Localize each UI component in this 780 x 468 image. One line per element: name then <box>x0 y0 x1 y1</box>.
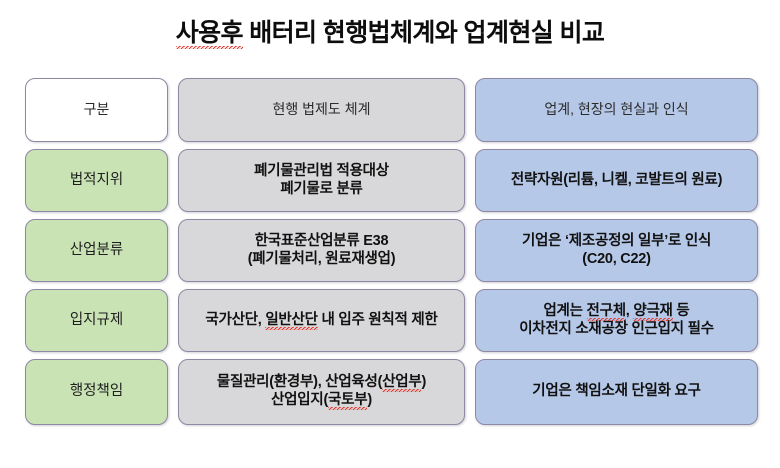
row-legal-1-line-0: 한국표준산업분류 E38 <box>248 233 396 251</box>
comparison-table: 구분 현행 법제도 체계 업계, 현장의 현실과 인식 법적지위 폐기물관리법 … <box>25 78 755 440</box>
misspelled-word: 양극재 <box>633 303 672 321</box>
row-legal-0: 폐기물관리법 적용대상 폐기물로 분류 <box>178 149 465 212</box>
row-legal-1: 한국표준산업분류 E38 (폐기물처리, 원료재생업) <box>178 219 465 282</box>
title-rest: 배터리 현행법체계와 업계현실 비교 <box>243 19 604 47</box>
row-legal-3-lines: 물질관리(환경부), 산업육성(산업부) 산업입지(국토부) <box>217 374 426 410</box>
row-industry-2-line-1: 이차전지 소재공장 인근입지 필수 <box>519 321 714 339</box>
misspelled-word: 산업부 <box>382 374 421 392</box>
row-industry-3-lines: 기업은 책임소재 단일화 요구 <box>532 383 700 401</box>
row-legal-2-line-0: 국가산단, 일반산단 내 입주 원칙적 제한 <box>205 312 437 330</box>
table-header-label: 구분 <box>25 78 168 142</box>
row-legal-0-lines: 폐기물관리법 적용대상 폐기물로 분류 <box>254 163 389 199</box>
table-header-industry: 업계, 현장의 현실과 인식 <box>475 78 758 142</box>
row-industry-0-lines: 전략자원(리튬, 니켈, 코발트의 원료) <box>511 172 722 190</box>
misspelled-word: 국토부 <box>328 392 367 410</box>
row-legal-2: 국가산단, 일반산단 내 입주 원칙적 제한 <box>178 289 465 352</box>
row-label-1: 산업분류 <box>25 219 168 282</box>
row-industry-1-lines: 기업은 ‘제조공정의 일부’로 인식 (C20, C22) <box>522 233 711 269</box>
row-industry-2-lines: 업계는 전구체, 양극재 등 이차전지 소재공장 인근입지 필수 <box>519 303 714 339</box>
row-legal-3: 물질관리(환경부), 산업육성(산업부) 산업입지(국토부) <box>178 359 465 425</box>
row-industry-1: 기업은 ‘제조공정의 일부’로 인식 (C20, C22) <box>475 219 758 282</box>
row-legal-3-line-1: 산업입지(국토부) <box>217 392 426 410</box>
row-label-0: 법적지위 <box>25 149 168 212</box>
page-title: 사용후 배터리 현행법체계와 업계현실 비교 <box>0 0 780 62</box>
row-legal-0-line-1: 폐기물로 분류 <box>254 181 389 199</box>
row-legal-2-lines: 국가산단, 일반산단 내 입주 원칙적 제한 <box>205 312 437 330</box>
row-industry-0: 전략자원(리튬, 니켈, 코발트의 원료) <box>475 149 758 212</box>
table-header-legal: 현행 법제도 체계 <box>178 78 465 142</box>
misspelled-word: 전구체 <box>587 303 626 321</box>
row-industry-1-line-0: 기업은 ‘제조공정의 일부’로 인식 <box>522 233 711 251</box>
row-label-2: 입지규제 <box>25 289 168 352</box>
row-label-3: 행정책임 <box>25 359 168 425</box>
page-title-text: 사용후 배터리 현행법체계와 업계현실 비교 <box>176 13 605 49</box>
row-legal-0-line-0: 폐기물관리법 적용대상 <box>254 163 389 181</box>
row-legal-1-lines: 한국표준산업분류 E38 (폐기물처리, 원료재생업) <box>248 233 396 269</box>
row-industry-3-line-0: 기업은 책임소재 단일화 요구 <box>532 383 700 401</box>
comparison-table-slide: 사용후 배터리 현행법체계와 업계현실 비교 구분 현행 법제도 체계 업계, … <box>0 0 780 468</box>
row-industry-0-line-0: 전략자원(리튬, 니켈, 코발트의 원료) <box>511 172 722 190</box>
misspelled-word: 일반산단 <box>265 312 317 330</box>
row-industry-1-line-1: (C20, C22) <box>522 251 711 269</box>
row-industry-2: 업계는 전구체, 양극재 등 이차전지 소재공장 인근입지 필수 <box>475 289 758 352</box>
title-misspelled-word: 사용후 <box>176 19 243 49</box>
row-legal-3-line-0: 물질관리(환경부), 산업육성(산업부) <box>217 374 426 392</box>
row-industry-3: 기업은 책임소재 단일화 요구 <box>475 359 758 425</box>
row-industry-2-line-0: 업계는 전구체, 양극재 등 <box>519 303 714 321</box>
row-legal-1-line-1: (폐기물처리, 원료재생업) <box>248 251 396 269</box>
